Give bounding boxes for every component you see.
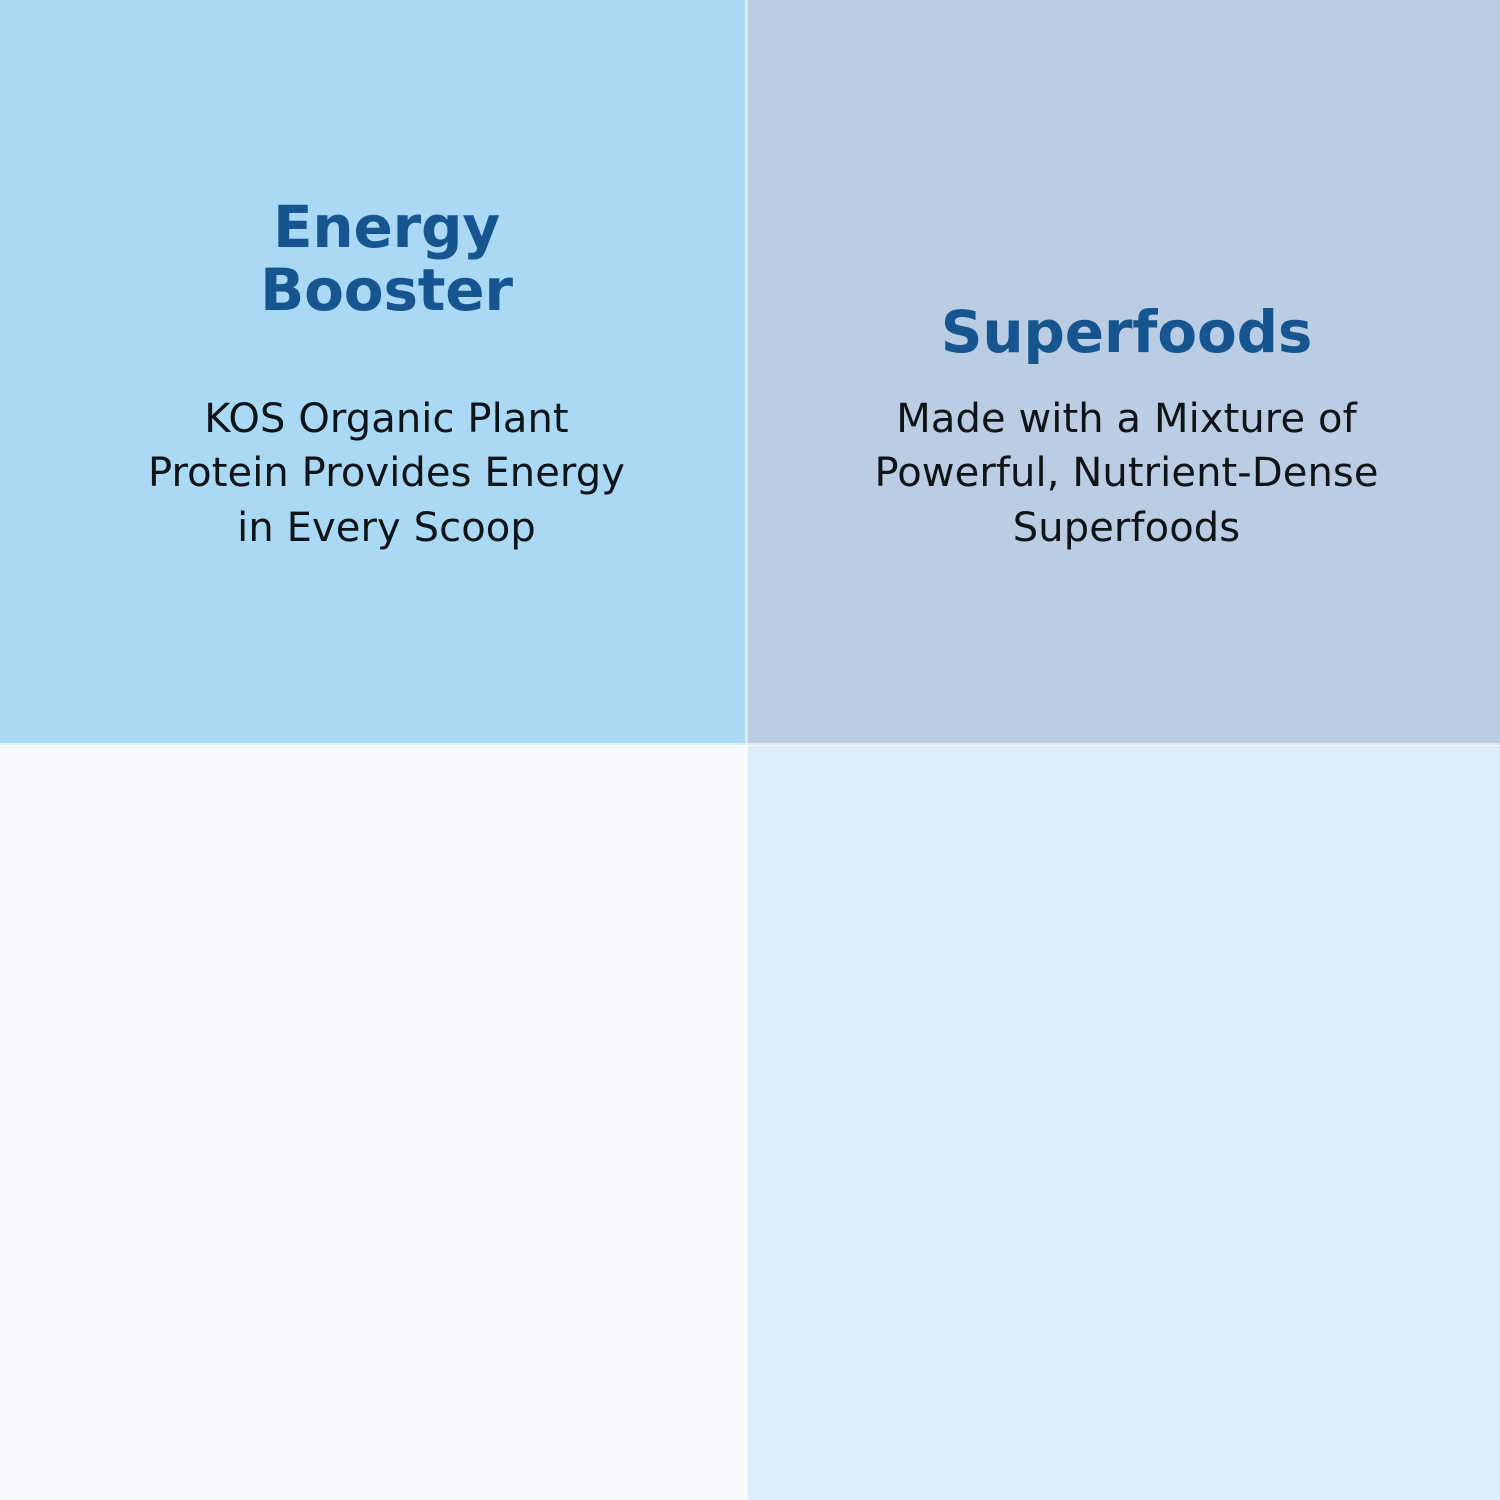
benefit-card-superfoods: Superfoods Made with a Mixture of Powerf… <box>747 0 1500 745</box>
benefit-card-content: Superfoods Made with a Mixture of Powerf… <box>747 196 1500 555</box>
benefit-card-nutrient-powerhouse: Nutrient Powerhouse Packed with 11 Vitam… <box>0 745 747 1500</box>
benefit-title-wrap: Energy Booster <box>26 196 747 364</box>
benefit-card-amazing-taste: Amazing Taste a Vegan Protein Famous for… <box>747 745 1500 1500</box>
benefit-description-superfoods: Made with a Mixture of Powerful, Nutrien… <box>753 364 1500 555</box>
benefit-card-energy-booster: Energy Booster KOS Organic Plant Protein… <box>0 0 747 745</box>
benefits-grid: Energy Booster KOS Organic Plant Protein… <box>0 0 1500 1500</box>
benefit-title-wrap: Superfoods <box>753 196 1500 364</box>
benefit-title-superfoods: Superfoods <box>753 301 1500 364</box>
benefit-description-energy-booster: KOS Organic Plant Protein Provides Energ… <box>26 364 747 555</box>
benefit-title-energy-booster: Energy Booster <box>26 196 747 321</box>
benefit-card-content: Energy Booster KOS Organic Plant Protein… <box>0 196 747 555</box>
